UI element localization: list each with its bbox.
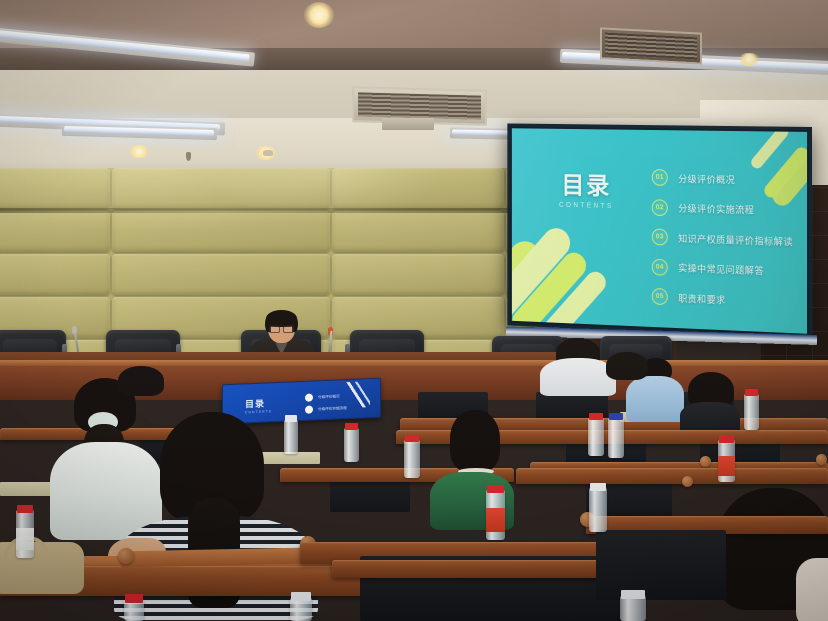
water-bottle-6-label <box>718 456 735 476</box>
attendee-dark-top <box>680 372 740 428</box>
slide-toc-label-3: 知识产权质量评价指标解读 <box>678 231 793 248</box>
water-bottle-2[interactable] <box>124 600 144 621</box>
desk-monitor-label-1: 分级评价概况 <box>318 394 340 400</box>
slide-toc-number-2: 02 <box>652 199 668 216</box>
water-bottle-5-cap <box>590 483 606 491</box>
attendee-head-back-3 <box>606 352 648 380</box>
attendee-dark-hair-right <box>712 488 828 621</box>
head-table-edge <box>0 360 828 366</box>
slide-toc-item-4: 04 实操中常见问题解答 <box>652 256 807 282</box>
ac-vent-ceiling-right <box>600 27 702 64</box>
attendee-right-shoulder <box>796 558 828 621</box>
attendee-green-hair <box>450 410 500 472</box>
slide-toc-item-2: 02 分级评价实施流程 <box>652 197 807 222</box>
water-bottle-11[interactable] <box>284 420 298 454</box>
slide-toc-item-1: 01 分级评价概况 <box>652 167 807 191</box>
projector-screen[interactable]: 目录 CONTENTS 01 分级评价概况 02 分级评价实施流程 03 知识产… <box>507 123 812 339</box>
presenter-glasses <box>269 325 294 330</box>
slide-toc-item-5: 05 职责和要求 <box>652 286 807 313</box>
water-bottle-4-label <box>486 508 505 532</box>
water-bottle-10-cap <box>405 435 419 442</box>
ac-vent-diffuser <box>382 118 434 130</box>
downlight-6 <box>738 53 760 66</box>
desk-monitor-bullet-1 <box>305 394 313 402</box>
bench-front-pad-right <box>596 530 726 600</box>
slide-toc-label-1: 分级评价概况 <box>678 171 735 186</box>
slide-toc-label-4: 实操中常见问题解答 <box>678 261 764 278</box>
slide-toc-label-5: 职责和要求 <box>678 290 725 306</box>
bench-row-c-right[interactable] <box>516 468 828 484</box>
conference-room-photo: 目录 CONTENTS 01 分级评价概况 02 分级评价实施流程 03 知识产… <box>0 0 828 621</box>
sprinkler-head-1 <box>186 152 191 161</box>
attendee-head-back-1 <box>118 366 164 396</box>
desk-monitor-title-cn: 目录 <box>245 396 272 410</box>
water-bottle-9[interactable] <box>744 394 759 430</box>
slide-toc-label-2: 分级评价实施流程 <box>678 201 754 217</box>
projector-screen-surface: 目录 CONTENTS 01 分级评价概况 02 分级评价实施流程 03 知识产… <box>512 128 807 334</box>
water-bottle-3-cap <box>291 592 311 601</box>
slide-toc-list: 01 分级评价概况 02 分级评价实施流程 03 知识产权质量评价指标解读 04… <box>652 167 807 322</box>
water-bottle-5[interactable] <box>589 488 607 532</box>
water-bottle-8-cap <box>609 413 623 420</box>
water-bottle-13[interactable] <box>620 596 646 621</box>
attendee-white-shirt-back <box>540 358 616 396</box>
water-bottle-3[interactable] <box>290 598 312 621</box>
water-bottle-12-cap <box>345 423 358 430</box>
water-bottle-13-cap <box>621 590 645 599</box>
water-bottle-8[interactable] <box>608 418 624 458</box>
downlight-1 <box>304 2 334 28</box>
slide-toc-number-5: 05 <box>652 288 668 305</box>
bench-knob-b2 <box>816 454 827 465</box>
water-bottle-12[interactable] <box>344 428 359 462</box>
bench-knob-b1 <box>700 456 711 467</box>
water-bottle-10[interactable] <box>404 440 420 478</box>
water-bottle-11-cap <box>285 415 297 422</box>
desk-monitor-label-2: 分级评价实施流程 <box>318 406 347 412</box>
water-bottle-4-cap <box>487 485 504 493</box>
slide-toc-number-1: 01 <box>652 169 668 186</box>
bench-knob-front-1 <box>118 548 134 564</box>
water-bottle-7[interactable] <box>588 418 604 456</box>
slide-toc-number-3: 03 <box>652 228 668 245</box>
bench-front-center-rail[interactable] <box>332 560 632 578</box>
slide-toc-item-3: 03 知识产权质量评价指标解读 <box>652 227 807 252</box>
water-bottle-1-label <box>16 528 34 550</box>
water-bottle-6-cap <box>719 435 734 443</box>
desk-monitor-accent <box>344 381 370 408</box>
slide-title-en: CONTENTS <box>559 202 614 210</box>
slide-title-cn: 目录 <box>559 174 614 199</box>
bench-knob-c1 <box>682 476 693 487</box>
water-bottle-2-cap <box>125 594 143 603</box>
water-bottle-7-cap <box>589 413 603 420</box>
downlight-2 <box>128 145 150 158</box>
wall-seam-shadow <box>0 208 560 213</box>
water-bottle-9-cap <box>745 389 758 396</box>
smoke-detector-1 <box>263 150 273 156</box>
slide-title-block: 目录 CONTENTS <box>559 174 614 210</box>
attendee-light-blue-torso <box>626 376 684 422</box>
water-bottle-1-cap <box>17 505 33 513</box>
desk-monitor-item-1: 分级评价概况 <box>305 392 340 401</box>
slide-toc-number-4: 04 <box>652 258 668 275</box>
